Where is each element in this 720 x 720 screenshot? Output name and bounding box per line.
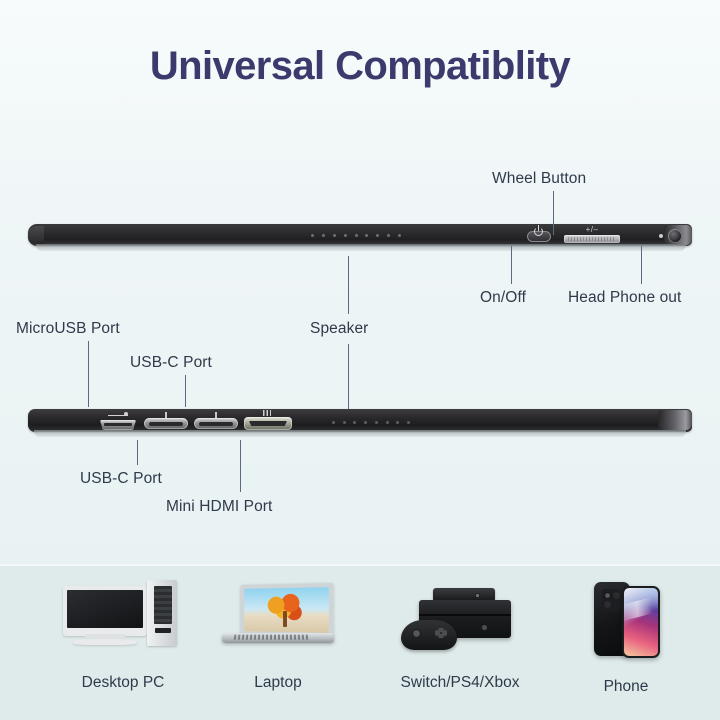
- power-button-icon[interactable]: [525, 229, 553, 243]
- leader-speaker-bottom: [348, 344, 349, 418]
- laptop-icon: [222, 584, 334, 650]
- device-desktop-pc[interactable]: Desktop PC: [50, 578, 196, 650]
- phone-icon: [588, 580, 664, 658]
- pc-tower-shape: [147, 580, 177, 646]
- laptop-base: [221, 633, 335, 643]
- callout-usb-c-port-top: USB-C Port: [130, 354, 212, 372]
- callout-usb-c-port-bottom: USB-C Port: [80, 470, 162, 488]
- bottom-edge-right-cap: [658, 410, 692, 430]
- callout-headphone-out: Head Phone out: [568, 289, 681, 307]
- leader-headphone-out: [641, 246, 642, 284]
- headphone-jack-icon[interactable]: [658, 228, 684, 244]
- game-controller-icon: [401, 620, 457, 650]
- device-console[interactable]: Switch/PS4/Xbox: [382, 588, 538, 652]
- compatible-devices-row: Desktop PC Laptop Switch/PS4/Xbox: [0, 578, 720, 720]
- pc-monitor-shape: [63, 586, 147, 636]
- leader-mini-hdmi-port: [240, 440, 241, 492]
- leader-microusb-port: [88, 341, 89, 407]
- power-symbol-icon: [534, 227, 543, 236]
- device-label-phone: Phone: [604, 678, 649, 696]
- microusb-port-icon[interactable]: [98, 412, 138, 432]
- pc-monitor-base: [73, 639, 137, 645]
- callout-speaker: Speaker: [310, 320, 368, 338]
- leader-wheel-button: [553, 191, 554, 235]
- laptop-lid: [241, 583, 333, 637]
- speaker-grille-icon-bottom: [332, 420, 410, 425]
- wheel-button-icon[interactable]: +/–: [564, 227, 620, 245]
- device-label-console: Switch/PS4/Xbox: [401, 674, 520, 692]
- laptop-screen: [244, 587, 329, 633]
- monitor-bottom-edge-diagram: [28, 409, 692, 439]
- speaker-grille-icon: [311, 233, 401, 238]
- top-edge-left-cap: [28, 226, 44, 244]
- leader-usb-c-port-bottom: [137, 440, 138, 465]
- laptop-keyboard: [234, 635, 310, 640]
- top-edge-underside: [36, 244, 686, 251]
- usb-c-port-slot-1: [149, 422, 183, 426]
- game-console-icon: [401, 588, 519, 652]
- callout-microusb-port: MicroUSB Port: [16, 320, 120, 338]
- phone-camera-module: [601, 589, 620, 611]
- usb-c-port-icon-1[interactable]: [144, 414, 188, 430]
- desktop-pc-icon: [63, 578, 183, 650]
- mini-hdmi-port-slot: [249, 421, 287, 426]
- usb-c-port-icon-2[interactable]: [194, 414, 238, 430]
- usb-symbol-icon: [108, 411, 128, 420]
- callout-wheel-button: Wheel Button: [492, 170, 586, 188]
- wheel-slider[interactable]: [564, 235, 620, 243]
- device-label-laptop: Laptop: [254, 674, 301, 692]
- leader-usb-c-port-top: [185, 375, 186, 407]
- callout-mini-hdmi-port: Mini HDMI Port: [166, 498, 272, 516]
- mini-hdmi-port-icon[interactable]: [244, 413, 292, 431]
- usb-c-port-slot-2: [199, 422, 233, 426]
- phone-front-shell: [622, 586, 660, 658]
- microusb-port-slot: [104, 423, 132, 426]
- wheel-plus-minus-label: +/–: [570, 226, 614, 234]
- leader-speaker-top: [348, 256, 349, 314]
- mini-hdmi-port-tick: [263, 410, 273, 416]
- monitor-top-edge-diagram: +/–: [28, 224, 692, 254]
- status-led-icon: [659, 234, 663, 238]
- leader-on-off: [511, 246, 512, 284]
- page-title: Universal Compatiblity: [0, 44, 720, 89]
- laptop-wallpaper-trunk: [283, 611, 287, 627]
- panel-divider: [0, 564, 720, 566]
- callout-on-off: On/Off: [480, 289, 526, 307]
- headphone-jack-ring: [668, 229, 682, 243]
- phone-screen: [624, 588, 658, 656]
- device-laptop[interactable]: Laptop: [212, 584, 344, 650]
- device-phone[interactable]: Phone: [566, 580, 686, 658]
- device-label-desktop-pc: Desktop PC: [82, 674, 165, 692]
